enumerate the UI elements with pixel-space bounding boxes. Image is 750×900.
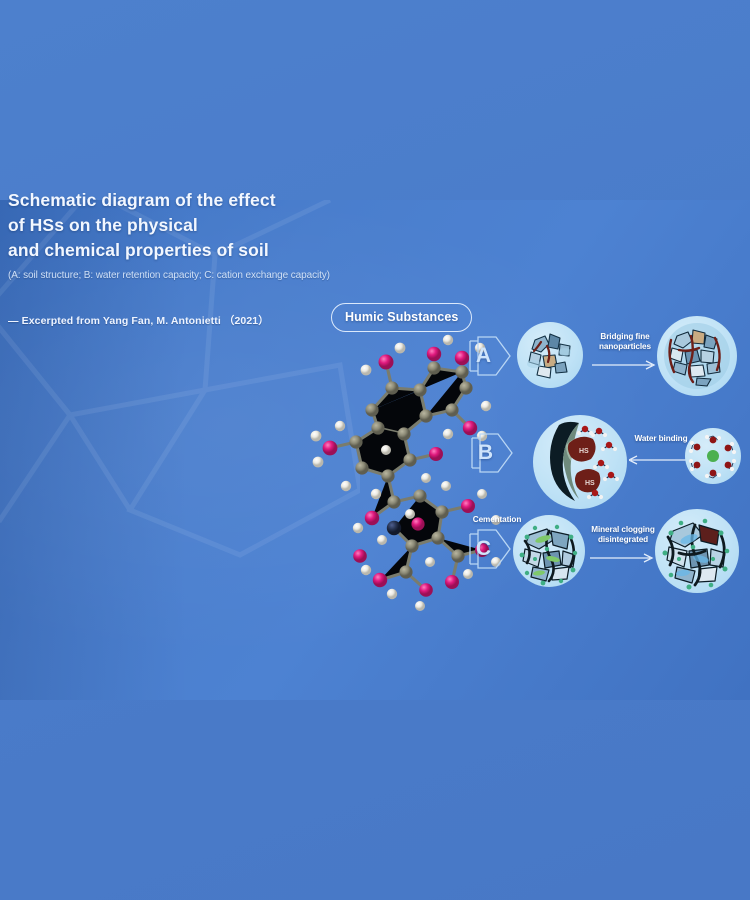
page-title-line-2: of HSs on the physical [8,213,338,238]
panel-b-right-bubble [685,428,741,484]
panel-c-arrow-tag: C [468,528,512,570]
panel-legend-subtitle: (A: soil structure; B: water retention c… [8,269,338,283]
panel-b-letter: B [470,432,501,474]
panel-a-flow-arrow-right [592,358,658,376]
panel-b-left-bubble: HS HS [533,415,627,509]
panel-c-left-bubble [513,515,585,587]
hs-blob-label-2: HS [585,480,595,487]
panel-c-right-bubble [655,509,739,593]
panel-a-left-bubble [517,322,583,388]
panel-b-flow-arrow-left [629,453,691,471]
panel-a-letter: A [468,335,499,377]
source-attribution: — Excerpted from Yang Fan, M. Antonietti… [8,313,338,328]
panel-c-letter: C [468,528,499,570]
panel-a-right-bubble [657,316,737,396]
heading-block: Schematic diagram of the effect of HSs o… [8,188,338,328]
panel-c-caption: Mineral clogging disintegrated [585,525,661,545]
hs-blob-label-1: HS [579,448,589,455]
page-title-line-3: and chemical properties of soil [8,238,338,263]
panel-a-caption: Bridging fine nanoparticles [588,332,662,352]
page-title-line-1: Schematic diagram of the effect [8,188,338,213]
panel-c-flow-arrow-right [590,551,656,569]
panel-b-arrow-tag: B [470,432,514,474]
panel-a-arrow-tag: A [468,335,512,377]
